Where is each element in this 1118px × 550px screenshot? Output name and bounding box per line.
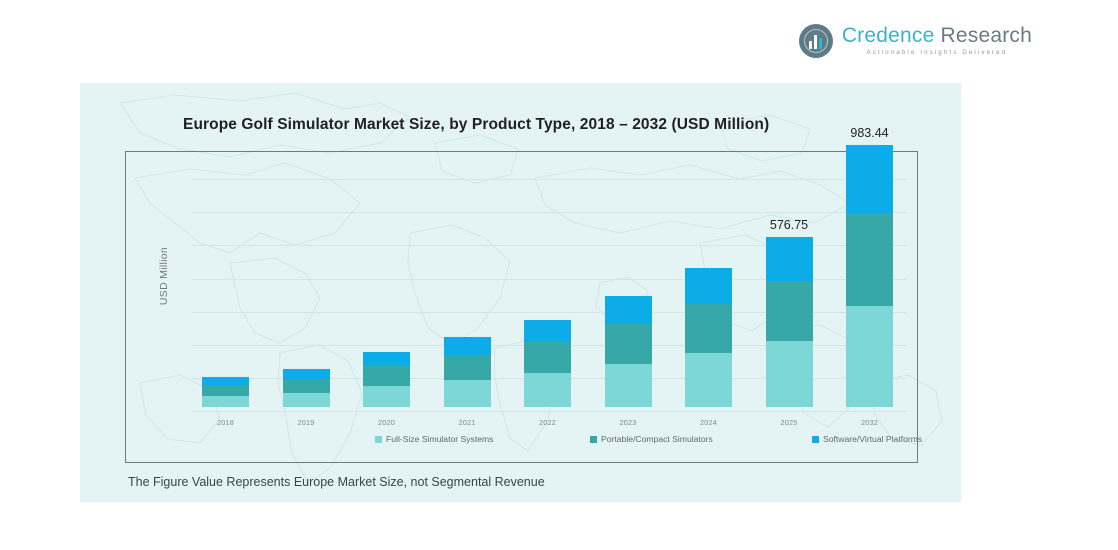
x-axis-tick: 2020 [378, 418, 395, 427]
bar-segment[interactable] [846, 306, 893, 407]
bar-segment[interactable] [444, 337, 491, 355]
bar-segment[interactable] [524, 320, 571, 342]
bar-column[interactable]: 576.752025 [766, 237, 813, 407]
x-axis-tick: 2023 [619, 418, 636, 427]
bar-segment[interactable] [283, 379, 330, 393]
bar-column[interactable]: 2019 [283, 369, 330, 407]
bar-segment[interactable] [524, 373, 571, 407]
bar-segment[interactable] [846, 145, 893, 212]
chart-panel: Europe Golf Simulator Market Size, by Pr… [80, 83, 961, 502]
bar-segment[interactable] [202, 396, 249, 407]
legend-swatch [812, 436, 819, 443]
chart-legend: Full-Size Simulator SystemsPortable/Comp… [192, 434, 907, 452]
bar-segment[interactable] [605, 296, 652, 325]
bar-column[interactable]: 983.442032 [846, 145, 893, 407]
bar-segment[interactable] [363, 352, 410, 366]
x-axis-tick: 2032 [861, 418, 878, 427]
legend-label: Full-Size Simulator Systems [386, 434, 493, 444]
bar-column[interactable]: 2021 [444, 337, 491, 407]
x-axis-tick: 2018 [217, 418, 234, 427]
bar-segment[interactable] [685, 353, 732, 407]
logo-bar-3 [819, 38, 822, 49]
legend-swatch [590, 436, 597, 443]
brand-text: Credence Research Actionable Insights De… [842, 25, 1032, 56]
bar-segment[interactable] [283, 393, 330, 407]
bar-segment[interactable] [363, 366, 410, 386]
bar-segment[interactable] [766, 237, 813, 280]
bar-column[interactable]: 2018 [202, 377, 249, 407]
logo-bar-1 [809, 41, 812, 49]
bar-segment[interactable] [605, 364, 652, 407]
bar-segment[interactable] [605, 324, 652, 364]
bar-value-label: 576.75 [770, 218, 808, 232]
brand-tagline: Actionable Insights Delivered [842, 50, 1032, 56]
legend-swatch [375, 436, 382, 443]
bar-segment[interactable] [524, 342, 571, 373]
bar-column[interactable]: 2020 [363, 352, 410, 407]
x-axis-tick: 2024 [700, 418, 717, 427]
bar-segment[interactable] [202, 377, 249, 385]
x-axis-tick: 2022 [539, 418, 556, 427]
bar-segment[interactable] [202, 385, 249, 396]
legend-item[interactable]: Full-Size Simulator Systems [375, 434, 493, 444]
bar-segment[interactable] [685, 268, 732, 304]
bar-value-label: 983.44 [850, 126, 888, 140]
chart-footnote: The Figure Value Represents Europe Marke… [128, 475, 545, 489]
legend-item[interactable]: Software/Virtual Platforms [812, 434, 922, 444]
page-header: Credence Research Actionable Insights De… [0, 0, 1118, 82]
bar-segment[interactable] [766, 281, 813, 341]
bar-column[interactable]: 2022 [524, 320, 571, 407]
bar-column[interactable]: 2024 [685, 268, 732, 407]
legend-label: Portable/Compact Simulators [601, 434, 713, 444]
plot-area: USD Million 2018201920202021202220232024… [125, 151, 918, 463]
gridline [192, 411, 907, 412]
logo-bar-2 [814, 35, 817, 49]
chart-title: Europe Golf Simulator Market Size, by Pr… [183, 116, 769, 134]
bars-container: 2018201920202021202220232024576.75202598… [192, 152, 911, 407]
brand-name-second: Research [941, 24, 1032, 47]
brand-name: Credence Research [842, 25, 1032, 46]
y-axis-label: USD Million [158, 236, 170, 316]
legend-item[interactable]: Portable/Compact Simulators [590, 434, 713, 444]
plot-inner: USD Million 2018201920202021202220232024… [126, 152, 917, 462]
bar-segment[interactable] [766, 341, 813, 407]
bar-column[interactable]: 2023 [605, 296, 652, 407]
x-axis-tick: 2021 [458, 418, 475, 427]
bar-segment[interactable] [685, 304, 732, 354]
circle-barchart-logo-icon [799, 24, 833, 58]
bar-segment[interactable] [444, 380, 491, 407]
brand-name-first: Credence [842, 24, 935, 47]
legend-label: Software/Virtual Platforms [823, 434, 922, 444]
bar-segment[interactable] [444, 355, 491, 380]
brand-logo: Credence Research Actionable Insights De… [799, 24, 1032, 58]
bar-segment[interactable] [363, 386, 410, 407]
bar-segment[interactable] [846, 213, 893, 307]
bar-segment[interactable] [283, 369, 330, 379]
x-axis-tick: 2019 [297, 418, 314, 427]
x-axis-tick: 2025 [780, 418, 797, 427]
